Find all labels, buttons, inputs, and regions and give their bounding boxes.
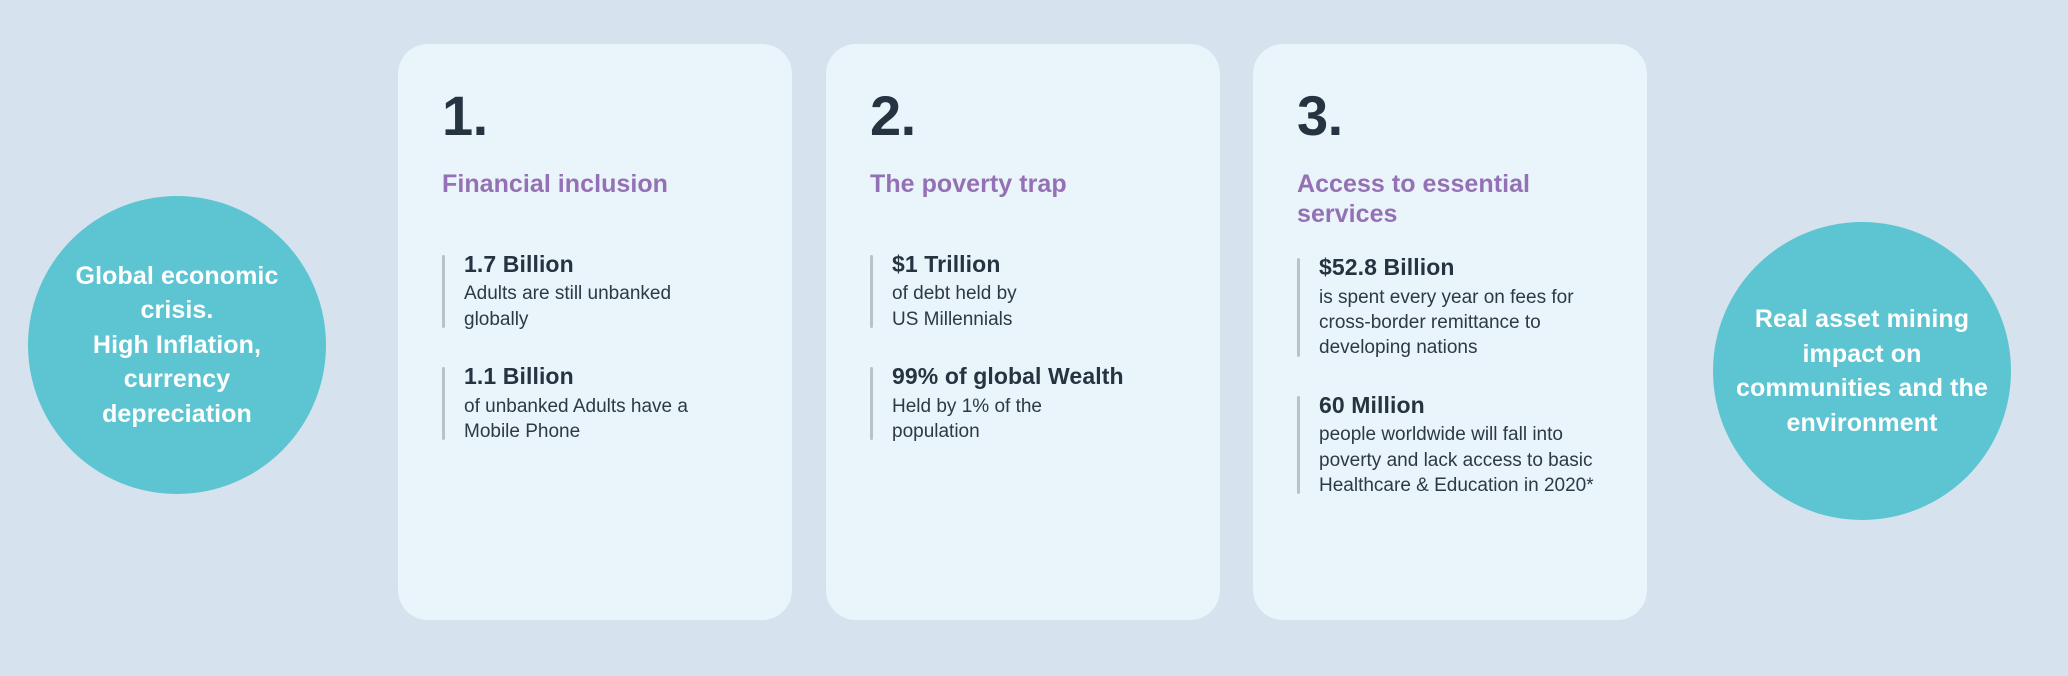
right-context-circle: Real asset mining impact on communities … [1713,222,2011,520]
stat-item: 99% of global Wealth Held by 1% of the p… [870,362,1176,444]
stat-item: $52.8 Billion is spent every year on fee… [1297,253,1603,361]
stat-item: 60 Million people worldwide will fall in… [1297,391,1603,499]
problem-card-3: 3. Access to essential services $52.8 Bi… [1253,44,1647,620]
left-context-circle: Global economic crisis. High Inflation, … [28,196,326,494]
card-1-number: 1. [442,88,748,144]
card-3-stat-2-description: people worldwide will fall into poverty … [1319,422,1603,498]
left-circle-text: Global economic crisis. High Inflation, … [55,259,300,432]
card-2-stat-1-value: $1 Trillion [892,250,1176,279]
right-circle-text: Real asset mining impact on communities … [1731,302,1993,440]
card-1-stat-2-description: of unbanked Adults have a Mobile Phone [464,394,748,445]
card-1-stat-1-description: Adults are still unbanked globally [464,281,748,332]
card-3-stat-2-value: 60 Million [1319,391,1603,420]
stat-item: 1.1 Billion of unbanked Adults have a Mo… [442,362,748,444]
card-2-stat-2-value: 99% of global Wealth [892,362,1176,391]
card-1-stat-1-value: 1.7 Billion [464,250,748,279]
card-1-stat-2-value: 1.1 Billion [464,362,748,391]
infographic-canvas: Global economic crisis. High Inflation, … [0,0,2068,676]
card-3-stat-list: $52.8 Billion is spent every year on fee… [1297,253,1603,498]
card-3-stat-1-value: $52.8 Billion [1319,253,1603,282]
card-3-stat-1-description: is spent every year on fees for cross-bo… [1319,285,1603,361]
card-1-stat-list: 1.7 Billion Adults are still unbanked gl… [442,250,748,445]
card-3-heading: Access to essential services [1297,170,1603,229]
card-2-stat-1-description: of debt held by US Millennials [892,281,1176,332]
stat-item: $1 Trillion of debt held by US Millennia… [870,250,1176,332]
problem-card-1: 1. Financial inclusion 1.7 Billion Adult… [398,44,792,620]
card-2-stat-2-description: Held by 1% of the population [892,394,1176,445]
card-1-heading: Financial inclusion [442,170,748,200]
card-3-number: 3. [1297,88,1603,144]
card-2-number: 2. [870,88,1176,144]
stat-item: 1.7 Billion Adults are still unbanked gl… [442,250,748,332]
problem-card-2: 2. The poverty trap $1 Trillion of debt … [826,44,1220,620]
card-2-stat-list: $1 Trillion of debt held by US Millennia… [870,250,1176,445]
card-2-heading: The poverty trap [870,170,1176,200]
